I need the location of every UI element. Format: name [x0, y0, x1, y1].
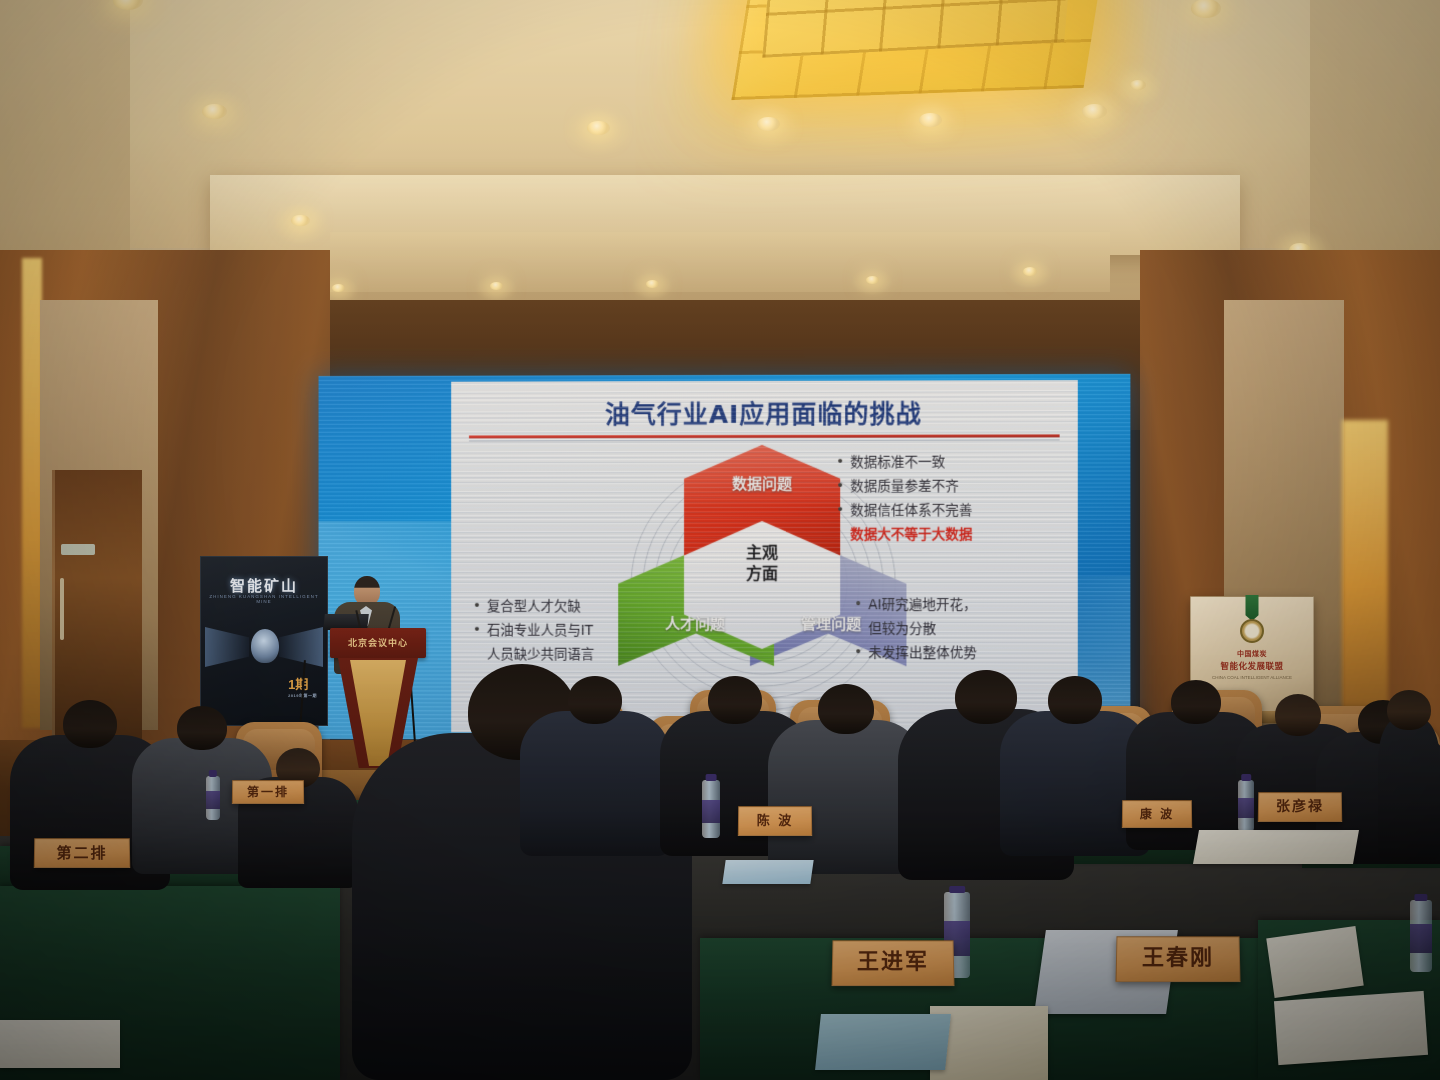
- audience-head: [1275, 694, 1321, 736]
- audience-torso: [1378, 719, 1440, 860]
- bullet-list-management: AI研究遍地开花，但较为分散未发挥出整体优势: [854, 595, 977, 664]
- ceiling-downlight: [291, 215, 310, 227]
- audience-head: [63, 700, 117, 748]
- poster-wing-right: [279, 627, 323, 667]
- bullet-item: 人员缺少共同语言: [473, 645, 594, 666]
- ceiling-downlight: [332, 284, 345, 292]
- ceiling-downlight: [1130, 80, 1146, 90]
- hexagon-center-line2: 方面: [746, 564, 778, 583]
- name-card: 第一排: [232, 780, 304, 804]
- ceiling-shelf-lower: [330, 232, 1110, 292]
- standee-ribbon-icon: [1246, 595, 1259, 621]
- name-card: 王春刚: [1115, 936, 1240, 982]
- document-paper: [1274, 991, 1428, 1065]
- water-bottle[interactable]: [1238, 780, 1254, 832]
- hexagon-label-talent: 人才问题: [640, 613, 750, 634]
- ceiling-downlight: [1082, 104, 1107, 120]
- name-card-text: 王春刚: [1142, 948, 1214, 970]
- name-card: 陈 波: [738, 806, 812, 836]
- podium-venue-logo: 北京会议中心: [330, 636, 426, 649]
- name-card: 张彦禄: [1258, 792, 1342, 822]
- poster-robot-graphic: [251, 629, 279, 663]
- bullet-item: 数据质量参差不齐: [836, 477, 972, 498]
- bullet-item: 但较为分散: [854, 619, 977, 640]
- poster-subtitle: ZHINENG KUANGSHAN INTELLIGENT MINE: [201, 594, 327, 604]
- ceiling-downlight: [757, 117, 780, 131]
- bullet-item: 数据信任体系不完善: [836, 501, 972, 522]
- ceiling-downlight: [866, 276, 879, 284]
- bullet-list-data: 数据标准不一致数据质量参差不齐数据信任体系不完善数据大不等于大数据: [836, 453, 972, 546]
- conference-photo: 油气行业AI应用面临的挑战: [0, 0, 1440, 1080]
- water-bottle[interactable]: [206, 776, 220, 820]
- bottle-label: [206, 791, 220, 809]
- name-card-text: 张彦禄: [1276, 800, 1324, 814]
- standee-line2: 智能化发展联盟: [1191, 660, 1313, 672]
- bottle-cap: [209, 770, 217, 777]
- audience-head: [1387, 690, 1431, 730]
- standee-seal-icon: [1240, 619, 1264, 643]
- magazine-poster: 智能矿山 ZHINENG KUANGSHAN INTELLIGENT MINE …: [200, 556, 328, 726]
- wall-right-cove-light: [1342, 420, 1388, 720]
- audience-head: [1048, 676, 1102, 724]
- ceiling-downlight: [1023, 267, 1037, 276]
- ceiling-downlight: [1191, 0, 1221, 18]
- bottle-cap: [1241, 774, 1251, 781]
- water-bottle[interactable]: [702, 780, 720, 838]
- poster-wing-left: [205, 627, 249, 667]
- document-paper: [0, 1020, 120, 1068]
- bottle-cap: [1414, 894, 1427, 901]
- standee-line1: 中国煤炭: [1191, 649, 1313, 659]
- audience-head: [818, 684, 874, 734]
- name-card-text: 陈 波: [757, 815, 794, 828]
- slide-title-rule: [469, 434, 1060, 438]
- ceiling-downlight: [587, 121, 610, 135]
- document-paper: [1266, 926, 1363, 998]
- name-card-text: 第一排: [247, 786, 289, 798]
- document-paper: [1193, 830, 1359, 864]
- audience-torso: [520, 711, 670, 856]
- audience-member: [238, 748, 358, 888]
- bullet-list-talent: 复合型人才欠缺石油专业人员与IT人员缺少共同语言: [473, 597, 594, 666]
- ceiling-downlight: [490, 282, 503, 290]
- bullet-item: 石油专业人员与IT: [473, 621, 594, 642]
- audience-head: [1171, 680, 1221, 724]
- audience-head: [568, 676, 622, 724]
- bullet-item: 数据标准不一致: [836, 453, 972, 474]
- bullets-talent-issues: 复合型人才欠缺石油专业人员与IT人员缺少共同语言: [473, 597, 594, 669]
- bullet-highlight: 数据大不等于大数据: [836, 525, 972, 546]
- wall-left-cove-light: [22, 258, 42, 728]
- bullets-management-issues: AI研究遍地开花，但较为分散未发挥出整体优势: [854, 595, 977, 667]
- bottle-cap: [949, 886, 965, 893]
- hexagon-center-label: 主观 方面: [724, 543, 800, 585]
- bullet-item: 复合型人才欠缺: [473, 597, 594, 618]
- slide-title-rule-thin: [469, 439, 1060, 441]
- name-card: 王进军: [832, 940, 955, 986]
- name-card-text: 第二排: [56, 846, 107, 861]
- name-card: 第二排: [34, 838, 131, 868]
- water-bottle[interactable]: [1410, 900, 1432, 972]
- audience-member: [1378, 690, 1440, 860]
- bottle-label: [1238, 798, 1254, 819]
- audience-member: [520, 676, 670, 856]
- poster-issue-number: 1期: [288, 677, 308, 692]
- poster-title: 智能矿山: [201, 575, 327, 596]
- ceiling-downlight: [646, 280, 659, 288]
- slide-title: 油气行业AI应用面临的挑战: [451, 394, 1078, 431]
- hexagon-center-line1: 主观: [746, 543, 778, 562]
- door-sign: [61, 544, 95, 555]
- ceiling-downlight: [202, 104, 227, 120]
- bottle-cap: [706, 774, 717, 781]
- bullets-data-issues: 数据标准不一致数据质量参差不齐数据信任体系不完善数据大不等于大数据: [836, 453, 972, 549]
- name-card: 康 波: [1122, 800, 1192, 828]
- ceiling-downlight: [919, 113, 942, 127]
- document-paper: [815, 1014, 951, 1070]
- bottle-label: [702, 800, 720, 823]
- document-paper: [722, 860, 813, 884]
- bullet-item: 未发挥出整体优势: [854, 643, 977, 664]
- hexagon-label-data: 数据问题: [714, 473, 810, 494]
- bullet-item: AI研究遍地开花，: [854, 595, 977, 616]
- door-handle[interactable]: [60, 578, 64, 640]
- name-card-text: 王进军: [857, 952, 929, 974]
- bottle-label: [1410, 924, 1432, 953]
- audience-head: [708, 676, 762, 724]
- name-card-text: 康 波: [1140, 808, 1174, 820]
- audience-head: [177, 706, 227, 750]
- podium-top: 北京会议中心: [330, 628, 426, 658]
